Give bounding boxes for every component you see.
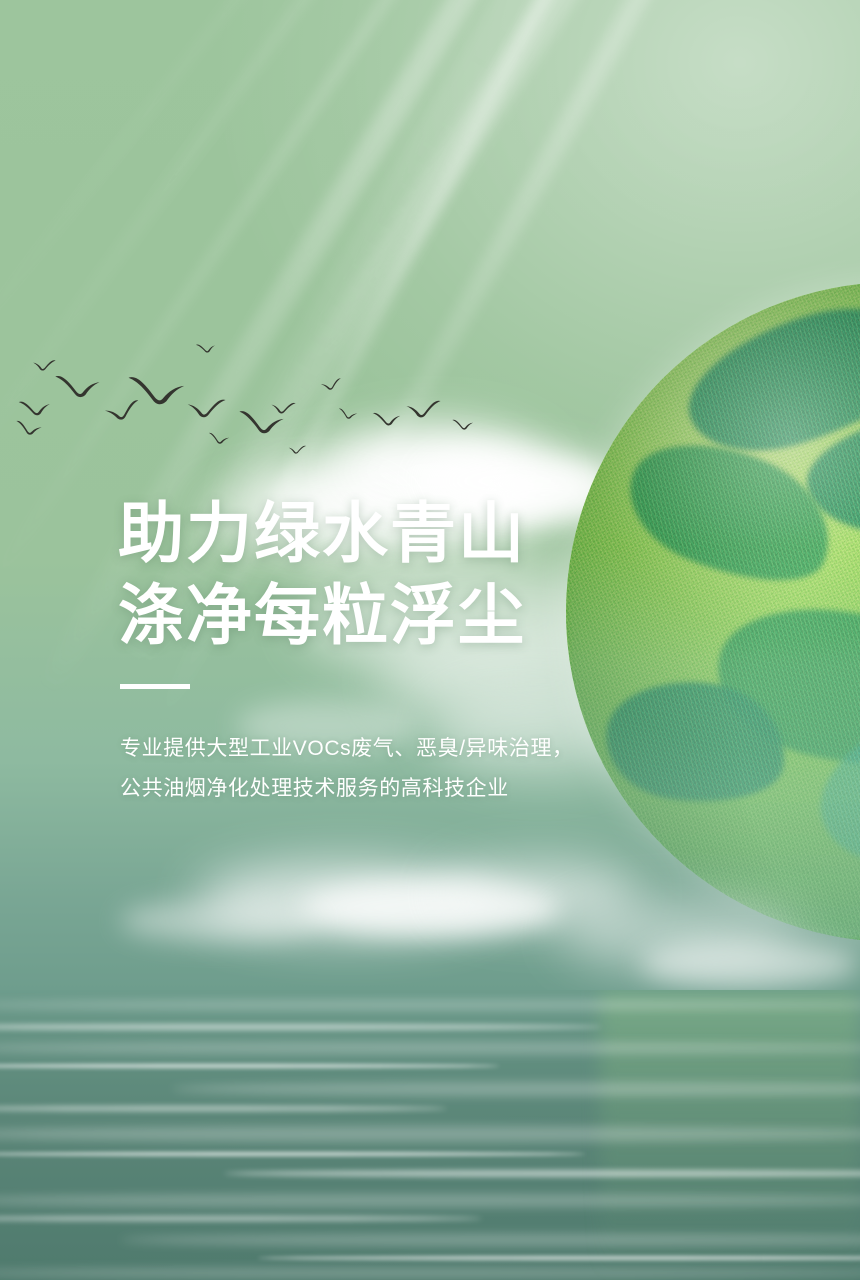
bird-icon <box>54 370 102 399</box>
bird-icon <box>31 357 56 372</box>
bird-icon <box>185 394 227 419</box>
subtitle-line-2: 公共油烟净化处理技术服务的高科技企业 <box>120 771 678 807</box>
banner-canvas: 助力绿水青山 涤净每粒浮尘 专业提供大型工业VOCs废气、恶臭/异味治理， 公共… <box>0 0 860 1280</box>
headline-line-1: 助力绿水青山 <box>118 492 678 574</box>
bird-icon <box>127 371 187 408</box>
headline-line-2: 涤净每粒浮尘 <box>118 574 678 656</box>
bird-icon <box>195 340 217 354</box>
bird-icon <box>371 408 403 427</box>
bird-icon <box>338 407 359 419</box>
subtitle-line-1: 专业提供大型工业VOCs废气、恶臭/异味治理， <box>120 731 678 767</box>
bird-icon <box>208 432 230 445</box>
banner-content: 助力绿水青山 涤净每粒浮尘 专业提供大型工业VOCs废气、恶臭/异味治理， 公共… <box>118 492 678 807</box>
white-rule-divider <box>120 684 190 689</box>
bird-icon <box>320 377 343 391</box>
bird-icon <box>17 396 53 419</box>
bird-icon <box>288 443 307 455</box>
bird-icon <box>452 417 475 431</box>
bird-icon <box>14 419 45 436</box>
bird-icon <box>404 397 443 419</box>
